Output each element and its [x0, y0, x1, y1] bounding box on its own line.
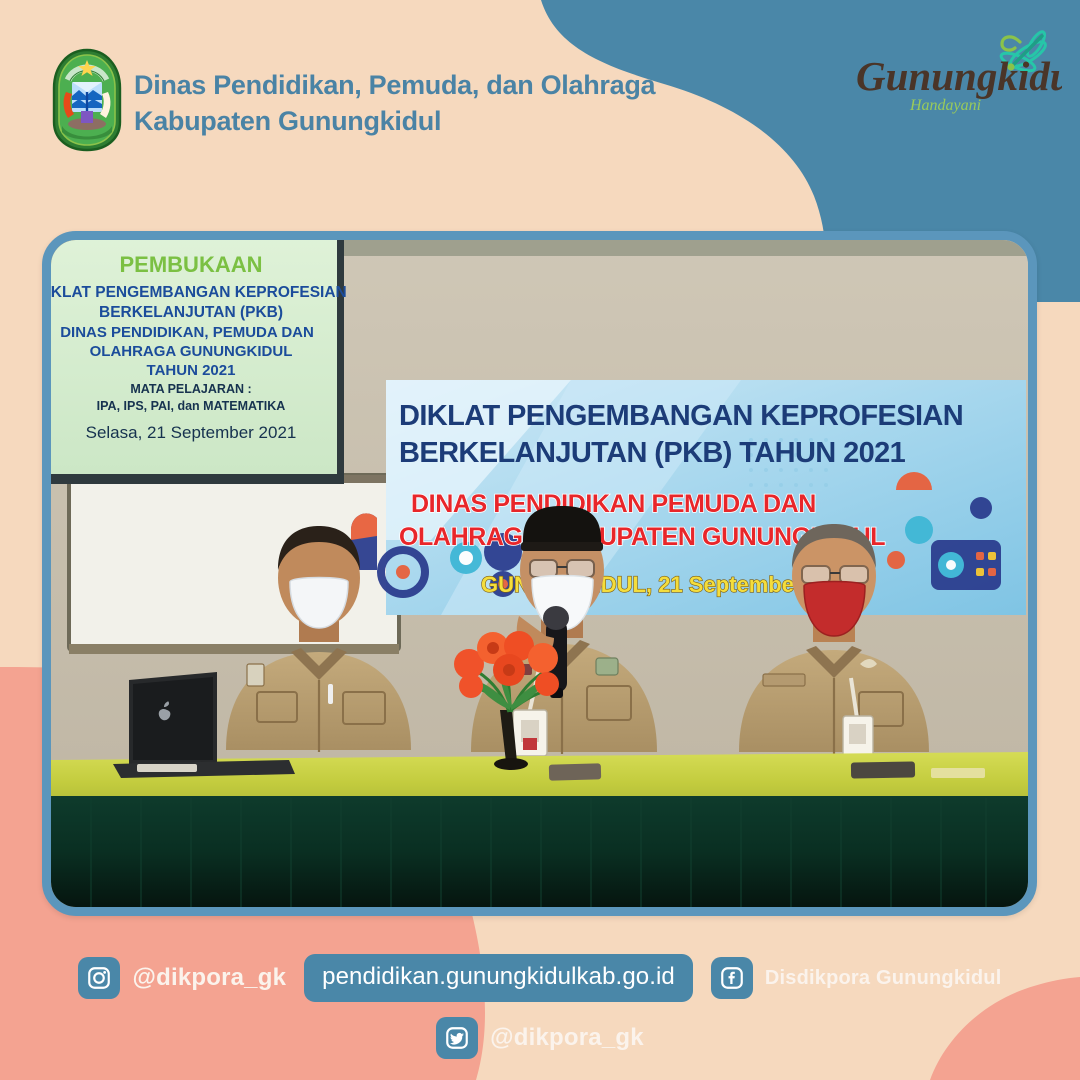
head-table-skirt	[51, 796, 1028, 907]
page-title: Dinas Pendidikan, Pemuda, dan Olahraga K…	[134, 68, 655, 139]
slide-date: Selasa, 21 September 2021	[86, 423, 297, 442]
brand-tagline: Handayani	[909, 97, 981, 114]
facebook-chip[interactable]: Disdikpora Gunungkidul	[711, 957, 1002, 999]
banner-line-3: DINAS PENDIDIKAN PEMUDA DAN	[411, 490, 816, 518]
facebook-page: Disdikpora Gunungkidul	[765, 967, 1002, 990]
facebook-icon[interactable]	[711, 957, 753, 999]
twitter-handle: @dikpora_gk	[490, 1024, 644, 1052]
banner-line-1: DIKLAT PENGEMBANGAN KEPROFESIAN	[399, 400, 963, 432]
gunungkidul-regency-crest-icon	[48, 48, 126, 152]
slide-line-2: BERKELANJUTAN (PKB)	[99, 304, 283, 321]
slide-subjects: IPA, IPS, PAI, dan MATEMATIKA	[97, 399, 286, 413]
banner-line-2: BERKELANJUTAN (PKB) TAHUN 2021	[399, 437, 906, 469]
person-right-nametag	[763, 674, 805, 686]
instagram-icon[interactable]	[78, 957, 120, 999]
person-center-peci-brim	[521, 542, 603, 551]
twitter-icon[interactable]	[436, 1017, 478, 1059]
paper-on-table	[931, 768, 985, 778]
twitter-chip[interactable]: @dikpora_gk	[436, 1017, 644, 1059]
person-center-insignia	[596, 658, 618, 675]
slide-line-3: DINAS PENDIDIKAN, PEMUDA DAN	[60, 324, 314, 341]
instagram-handle: @dikpora_gk	[132, 964, 286, 992]
event-photo-card: PEMBUKAAN DIKLAT PENGEMBANGAN KEPROFESIA…	[42, 231, 1037, 916]
slide-line-1: DIKLAT PENGEMBANGAN KEPROFESIAN	[51, 284, 347, 301]
smartphone-right	[851, 761, 915, 778]
slide-line-5: TAHUN 2021	[147, 362, 236, 379]
slide-heading: PEMBUKAAN	[120, 252, 263, 277]
smartphone-center	[549, 763, 601, 780]
slide-subject-label: MATA PELAJARAN :	[130, 382, 251, 396]
whiteboard-tray	[69, 644, 399, 654]
person-left-pen	[328, 684, 333, 704]
person-left-badge	[247, 664, 264, 686]
instagram-chip[interactable]: @dikpora_gk	[78, 957, 286, 999]
social-media-footer: @dikpora_gk pendidikan.gunungkidulkab.go…	[0, 942, 1080, 1080]
person-center-peci-cap	[523, 506, 601, 548]
brand-wordmark: Gunungkidul	[856, 53, 1062, 99]
event-photo: PEMBUKAAN DIKLAT PENGEMBANGAN KEPROFESIA…	[51, 240, 1028, 907]
gunungkidul-handayani-logo: Gunungkidul Handayani	[852, 22, 1062, 132]
poster-header: Dinas Pendidikan, Pemuda, dan Olahraga K…	[0, 0, 1080, 190]
website-badge[interactable]: pendidikan.gunungkidulkab.go.id	[304, 954, 693, 1002]
slide-line-4: OLAHRAGA GUNUNGKIDUL	[90, 343, 293, 360]
